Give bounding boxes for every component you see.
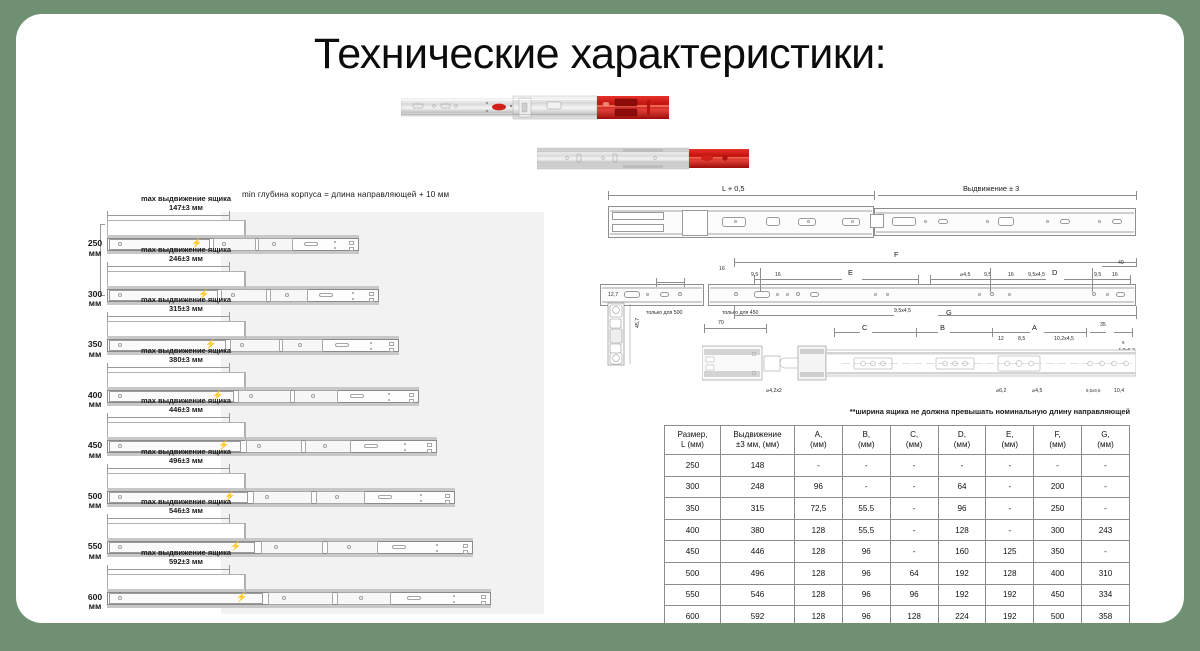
extension-caption: max выдвижение ящика xyxy=(141,194,231,203)
table-cell-2: 96 xyxy=(795,476,843,498)
extension-caption: max выдвижение ящика xyxy=(141,396,231,405)
dim-label-12_7: 12,7 xyxy=(608,292,618,298)
table-cell-5: 224 xyxy=(938,606,986,623)
table-cell-5: 192 xyxy=(938,562,986,584)
table-cell-7: 200 xyxy=(1034,476,1082,498)
table-cell-2: 128 xyxy=(795,584,843,606)
table-cell-5: 96 xyxy=(938,498,986,520)
table-cell-1: 592 xyxy=(721,606,795,623)
rail-cross-section xyxy=(602,302,636,366)
table-cell-5: - xyxy=(938,455,986,477)
dim-label-45_7: 45,7 xyxy=(635,318,641,328)
table-row: 45044612896-160125350- xyxy=(665,541,1130,563)
size-unit: мм xyxy=(89,601,102,611)
table-cell-0: 550 xyxy=(665,584,721,606)
table-cell-6: - xyxy=(986,498,1034,520)
size-value: 250 xyxy=(88,238,102,248)
table-cell-4: - xyxy=(890,498,938,520)
dim-label-9_5x4_5-bottom: 9,5x4,5 xyxy=(894,308,911,314)
dim-label-16-b: 16 xyxy=(1008,272,1014,278)
table-cell-6: 192 xyxy=(986,584,1034,606)
table-cell-4: - xyxy=(890,476,938,498)
table-header-cell-1: Выдвижение±3 мм, (мм) xyxy=(721,426,795,455)
table-header-row: Размер,L (мм)Выдвижение±3 мм, (мм)A,(мм)… xyxy=(665,426,1130,455)
slide-page: Технические характеристики: xyxy=(16,14,1184,623)
table-cell-8: 310 xyxy=(1082,562,1130,584)
table-cell-5: 192 xyxy=(938,584,986,606)
dim-label-d4_5: ⌀4,5 xyxy=(1032,388,1042,394)
table-cell-7: 250 xyxy=(1034,498,1082,520)
table-row: 5505461289696192192450334 xyxy=(665,584,1130,606)
extension-value: 592±3 мм xyxy=(169,557,203,566)
table-cell-1: 315 xyxy=(721,498,795,520)
drawer-slide-extended-photo xyxy=(401,94,669,121)
table-cell-1: 546 xyxy=(721,584,795,606)
size-unit: мм xyxy=(89,500,102,510)
table-cell-7: 300 xyxy=(1034,519,1082,541)
table-header-cell-6: E,(мм) xyxy=(986,426,1034,455)
table-cell-2: 128 xyxy=(795,562,843,584)
table-cell-0: 500 xyxy=(665,562,721,584)
table-cell-3: 55.5 xyxy=(842,498,890,520)
size-value: 350 xyxy=(88,339,102,349)
extension-value: 380±3 мм xyxy=(169,355,203,364)
table-cell-0: 300 xyxy=(665,476,721,498)
extension-value: 446±3 мм xyxy=(169,405,203,414)
table-header-cell-0: Размер,L (мм) xyxy=(665,426,721,455)
table-cell-0: 600 xyxy=(665,606,721,623)
table-cell-0: 250 xyxy=(665,455,721,477)
table-header-cell-2: A,(мм) xyxy=(795,426,843,455)
extension-value: 546±3 мм xyxy=(169,506,203,515)
table-cell-3: - xyxy=(842,455,890,477)
height-bracket xyxy=(100,224,105,296)
dim-label-16-right: 16 xyxy=(1112,272,1118,278)
dim-label-A: A xyxy=(1032,323,1037,332)
table-cell-3: 96 xyxy=(842,606,890,623)
dim-label-35: 35 xyxy=(1100,322,1106,328)
dim-label-70: 70 xyxy=(718,320,724,326)
table-header-cell-3: B,(мм) xyxy=(842,426,890,455)
table-cell-8: - xyxy=(1082,455,1130,477)
size-value: 400 xyxy=(88,390,102,400)
table-cell-7: 350 xyxy=(1034,541,1082,563)
rail-detail-drawing xyxy=(702,342,1136,386)
table-row: 5004961289664192128400310 xyxy=(665,562,1130,584)
min-depth-note: min глубина корпуса = длина направляющей… xyxy=(242,190,449,199)
table-cell-2: 128 xyxy=(795,541,843,563)
table-cell-6: - xyxy=(986,455,1034,477)
table-cell-2: 72,5 xyxy=(795,498,843,520)
table-cell-3: 55.5 xyxy=(842,519,890,541)
size-value: 450 xyxy=(88,440,102,450)
extension-value: 496±3 мм xyxy=(169,456,203,465)
table-cell-3: 96 xyxy=(842,584,890,606)
table-cell-4: - xyxy=(890,541,938,563)
table-row: 40038012855.5-128-300243 xyxy=(665,519,1130,541)
extension-caption: max выдвижение ящика xyxy=(141,245,231,254)
size-value: 300 xyxy=(88,289,102,299)
dim-label-d4_2x2: ⌀4,2x2 xyxy=(766,388,782,394)
table-cell-8: 243 xyxy=(1082,519,1130,541)
note-only-for-500: только для 500 xyxy=(646,310,682,316)
extension-diagram-panel: min глубина корпуса = длина направляющей… xyxy=(78,190,544,614)
extension-caption: max выдвижение ящика xyxy=(141,346,231,355)
table-cell-8: - xyxy=(1082,476,1130,498)
dim-label-extension: Выдвижение ± 3 xyxy=(963,184,1019,193)
table-cell-6: - xyxy=(986,519,1034,541)
page-title: Технические характеристики: xyxy=(16,30,1184,79)
dim-label-10_4: 10,4 xyxy=(1114,388,1124,394)
table-cell-5: 128 xyxy=(938,519,986,541)
table-row: 250148------- xyxy=(665,455,1130,477)
dim-label-B: B xyxy=(940,323,945,332)
dim-label-9_5-right: 9,5 xyxy=(1094,272,1101,278)
table-cell-4: - xyxy=(890,455,938,477)
dim-label-C: C xyxy=(862,323,867,332)
extension-caption: max выдвижение ящика xyxy=(141,447,231,456)
table-cell-6: 125 xyxy=(986,541,1034,563)
table-cell-6: 192 xyxy=(986,606,1034,623)
table-header-cell-7: F,(мм) xyxy=(1034,426,1082,455)
table-cell-1: 148 xyxy=(721,455,795,477)
table-cell-4: - xyxy=(890,519,938,541)
table-cell-7: 500 xyxy=(1034,606,1082,623)
table-cell-1: 446 xyxy=(721,541,795,563)
dim-label-9_5x4_5-top: 9,5x4,5 xyxy=(1028,272,1045,278)
size-unit: мм xyxy=(89,450,102,460)
table-header-cell-8: G,(мм) xyxy=(1082,426,1130,455)
table-cell-2: 128 xyxy=(795,606,843,623)
table-cell-6: - xyxy=(986,476,1034,498)
size-value: 600 xyxy=(88,592,102,602)
dim-label-E: E xyxy=(848,268,853,277)
table-cell-8: - xyxy=(1082,541,1130,563)
table-cell-2: - xyxy=(795,455,843,477)
extension-caption: max выдвижение ящика xyxy=(141,497,231,506)
table-cell-4: 96 xyxy=(890,584,938,606)
table-cell-7: - xyxy=(1034,455,1082,477)
table-cell-2: 128 xyxy=(795,519,843,541)
dim-label-9_5-a: 9,5 xyxy=(751,272,758,278)
extension-caption: max выдвижение ящика xyxy=(141,548,231,557)
table-cell-0: 350 xyxy=(665,498,721,520)
table-cell-3: - xyxy=(842,476,890,498)
dim-label-16-left: 16 xyxy=(719,266,725,272)
dim-label-D: D xyxy=(1052,268,1057,277)
size-unit: мм xyxy=(89,349,102,359)
table-footnote: **ширина ящика не должна превышать номин… xyxy=(664,407,1130,416)
dim-label-d4_5: ⌀4,5 xyxy=(960,272,970,278)
table-cell-7: 400 xyxy=(1034,562,1082,584)
table-cell-1: 248 xyxy=(721,476,795,498)
table-cell-8: 358 xyxy=(1082,606,1130,623)
technical-drawings-panel: L + 0,5 Выдвижение ± 3 F xyxy=(594,184,1142,399)
size-value: 500 xyxy=(88,491,102,501)
size-unit: мм xyxy=(89,551,102,561)
dim-label-16-a: 16 xyxy=(775,272,781,278)
table-cell-8: 334 xyxy=(1082,584,1130,606)
table-cell-5: 64 xyxy=(938,476,986,498)
table-row: 35031572,555.5-96-250- xyxy=(665,498,1130,520)
drawer-slide-closed-photo xyxy=(537,147,749,170)
size-unit: мм xyxy=(89,298,102,308)
table-row: 30024896--64-200- xyxy=(665,476,1130,498)
table-cell-3: 96 xyxy=(842,562,890,584)
table-cell-0: 450 xyxy=(665,541,721,563)
table-cell-5: 160 xyxy=(938,541,986,563)
dim-label-d6_2: ⌀6,2 xyxy=(996,388,1006,394)
extension-value: 315±3 мм xyxy=(169,304,203,313)
table-cell-3: 96 xyxy=(842,541,890,563)
table-cell-4: 64 xyxy=(890,562,938,584)
table-cell-1: 496 xyxy=(721,562,795,584)
table-row: 60059212896128224192500358 xyxy=(665,606,1130,623)
size-value: 550 xyxy=(88,541,102,551)
table-header-cell-4: C,(мм) xyxy=(890,426,938,455)
table-cell-8: - xyxy=(1082,498,1130,520)
table-cell-1: 380 xyxy=(721,519,795,541)
table-cell-0: 400 xyxy=(665,519,721,541)
extension-value: 246±3 мм xyxy=(169,254,203,263)
extension-value: 147±3 мм xyxy=(169,203,203,212)
table-cell-6: 128 xyxy=(986,562,1034,584)
size-unit: мм xyxy=(89,399,102,409)
specifications-table: Размер,L (мм)Выдвижение±3 мм, (мм)A,(мм)… xyxy=(664,425,1130,623)
table-cell-4: 128 xyxy=(890,606,938,623)
size-unit: мм xyxy=(89,248,102,258)
dim-label-9_5x9_5: 9,5x9,5 xyxy=(1086,388,1100,393)
dim-label-F: F xyxy=(894,250,899,259)
dim-label-L: L + 0,5 xyxy=(722,184,745,193)
table-cell-7: 450 xyxy=(1034,584,1082,606)
table-header-cell-5: D,(мм) xyxy=(938,426,986,455)
extension-caption: max выдвижение ящика xyxy=(141,295,231,304)
